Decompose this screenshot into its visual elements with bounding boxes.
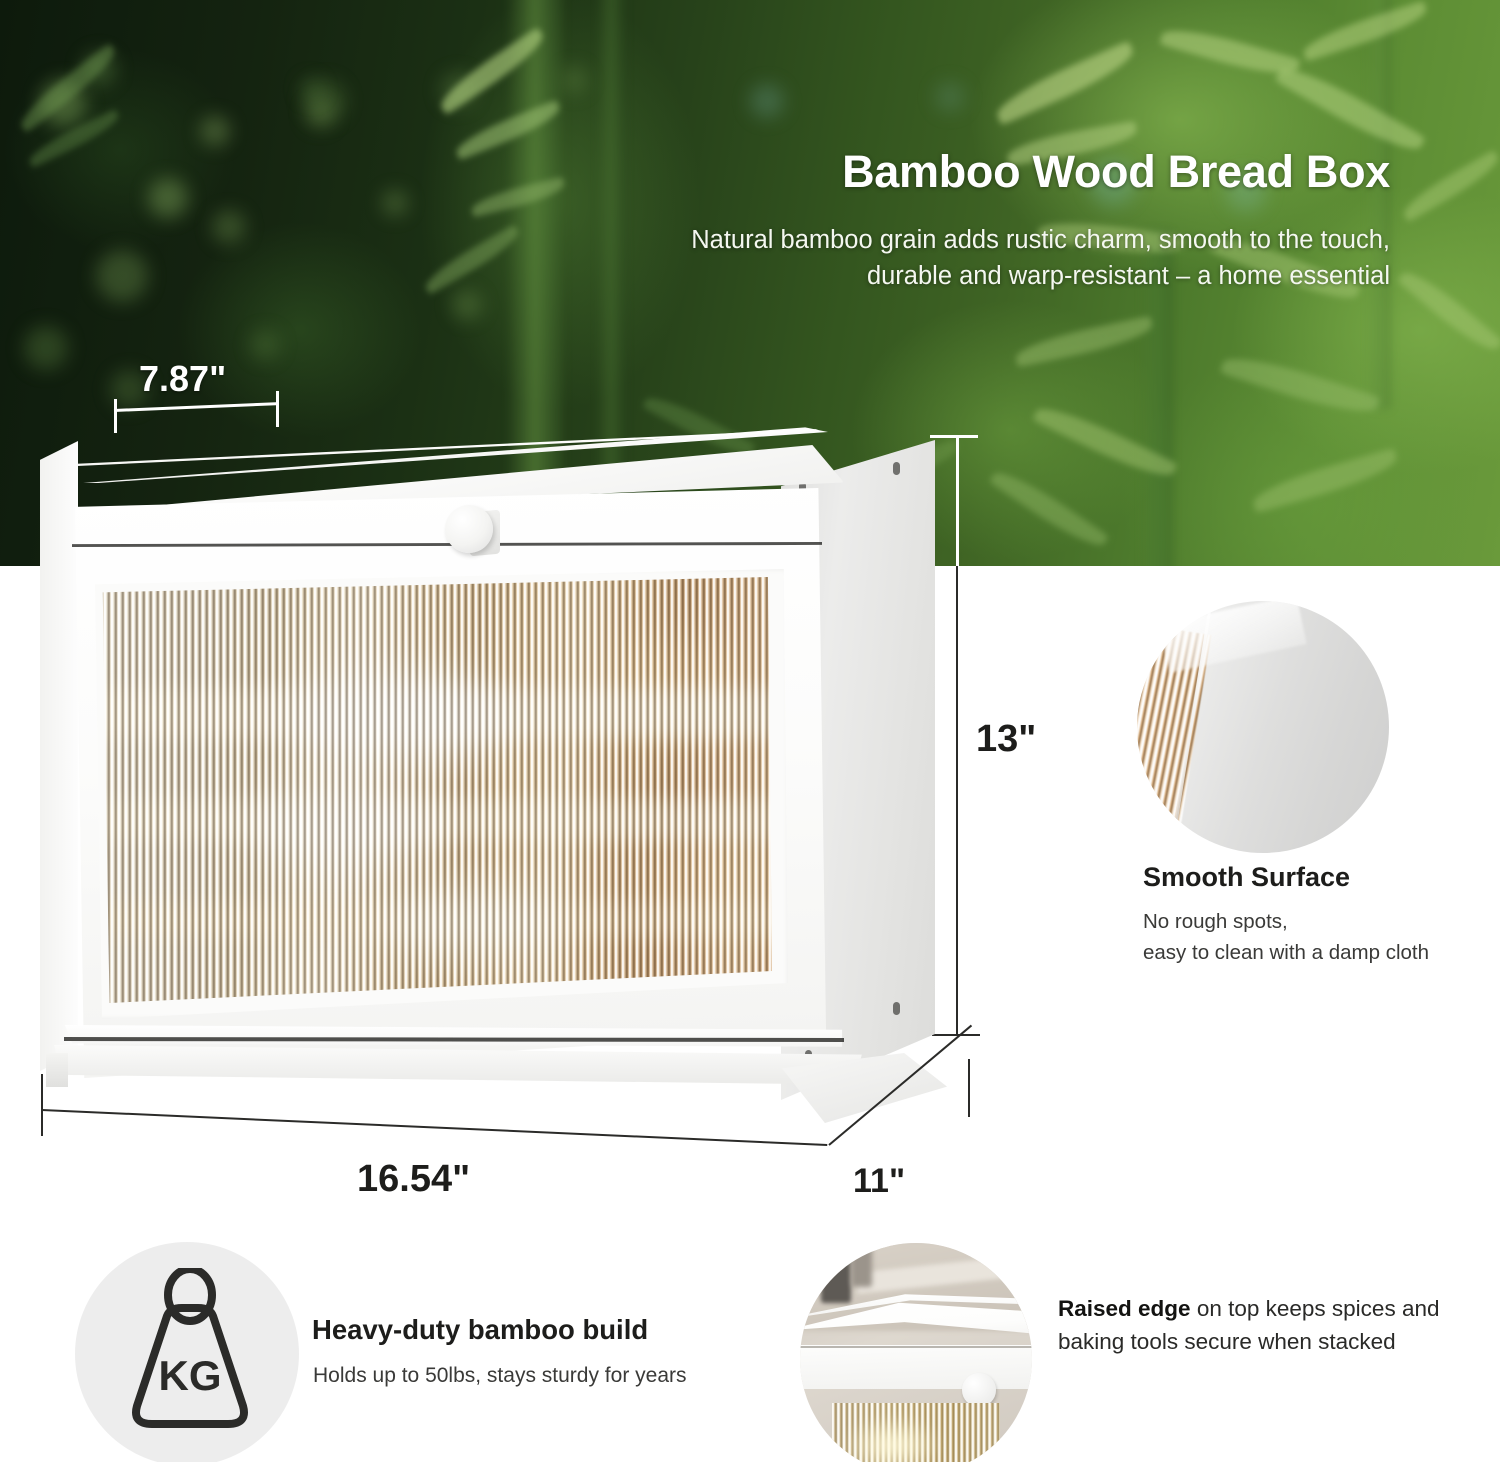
dimension-label-depth-side: 11" [853, 1162, 905, 1201]
smooth-surface-closeup-image [1137, 601, 1389, 853]
heavy-duty-title: Heavy-duty bamboo build [312, 1314, 648, 1346]
kg-icon-label: KG [159, 1352, 222, 1399]
dim-depth-side-tick [968, 1059, 970, 1117]
weight-kg-icon: KG [120, 1268, 260, 1436]
page-subtitle: Natural bamboo grain adds rustic charm, … [600, 222, 1390, 294]
product-base-rail-bottom [50, 1045, 870, 1089]
dim-depth-top-tick-right [276, 391, 279, 427]
page-title: Bamboo Wood Bread Box [570, 146, 1390, 198]
product-infographic: Bamboo Wood Bread Box Natural bamboo gra… [0, 0, 1500, 1462]
smooth-surface-title: Smooth Surface [1143, 862, 1350, 893]
dim-width-tick-left [41, 1074, 43, 1136]
smooth-surface-description-line1: No rough spots, [1143, 906, 1429, 937]
product-door-knob[interactable] [445, 505, 493, 553]
smooth-surface-description-line2: easy to clean with a damp cloth [1143, 937, 1429, 968]
dimension-label-height: 13" [976, 718, 1036, 761]
raised-edge-lead: Raised edge [1058, 1296, 1191, 1321]
product-left-post [40, 441, 78, 1071]
smooth-surface-description: No rough spots, easy to clean with a dam… [1143, 906, 1429, 968]
heavy-duty-description: Holds up to 50lbs, stays sturdy for year… [313, 1364, 687, 1388]
dimension-label-width: 16.54" [357, 1158, 470, 1201]
product-foot-left [46, 1053, 68, 1087]
raised-edge-description: Raised edge on top keeps spices and baki… [1058, 1293, 1458, 1359]
bread-box-product-image [40, 425, 960, 1125]
raised-edge-closeup-image [800, 1243, 1032, 1462]
product-fluted-glass-door[interactable] [96, 577, 772, 1003]
dimension-label-depth-top: 7.87" [139, 358, 226, 400]
